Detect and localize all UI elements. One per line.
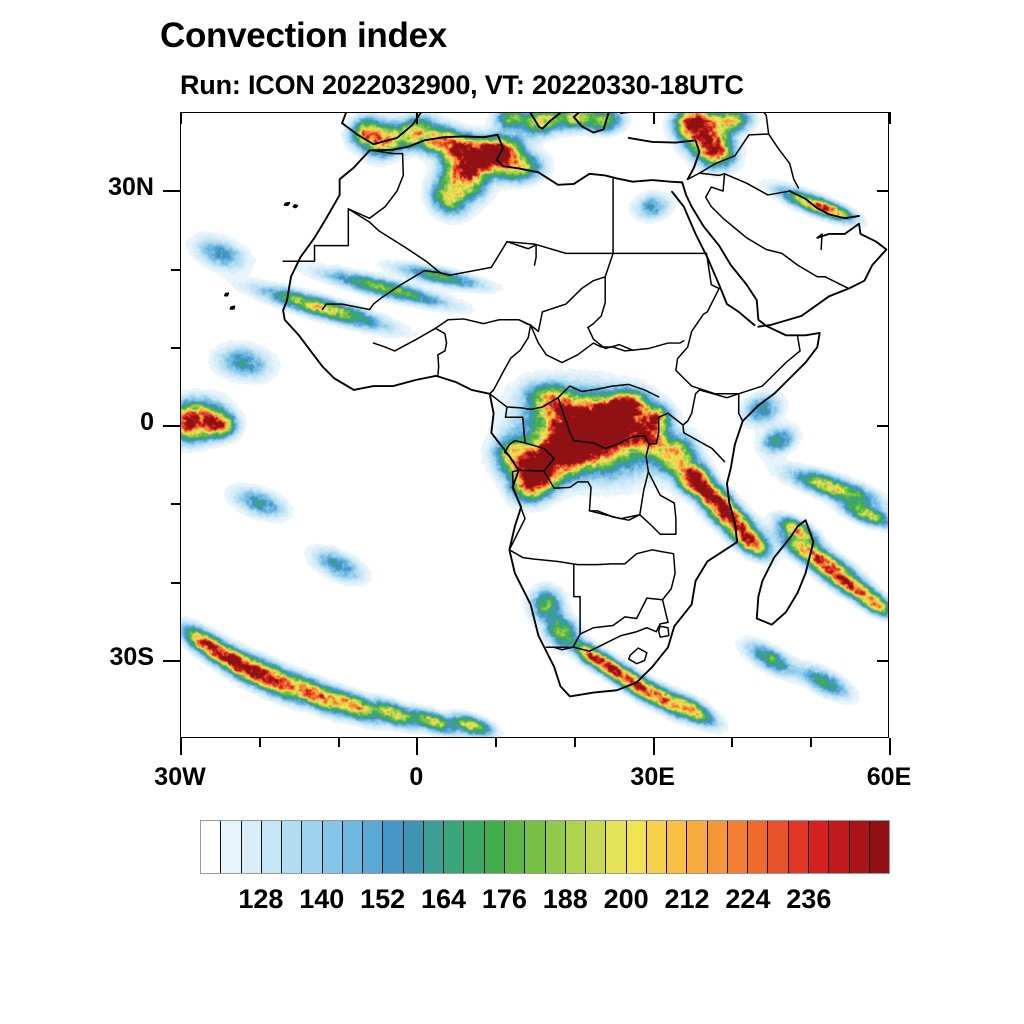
x-tick-minor-20 bbox=[574, 738, 576, 747]
y-tick-major-30N bbox=[163, 190, 180, 192]
colorbar-segment-8 bbox=[363, 821, 383, 873]
colorbar-segment-17 bbox=[546, 821, 566, 873]
y-tick-minor--10 bbox=[171, 503, 180, 505]
colorbar-segment-12 bbox=[444, 821, 464, 873]
x-tick-major-60E bbox=[889, 738, 891, 755]
colorbar-label-236: 236 bbox=[786, 884, 831, 915]
colorbar-segment-20 bbox=[606, 821, 626, 873]
colorbar-segment-16 bbox=[525, 821, 545, 873]
x-tick-top bbox=[653, 112, 655, 124]
colorbar-label-140: 140 bbox=[299, 884, 344, 915]
y-tick-major-30S bbox=[163, 660, 180, 662]
colorbar-segment-19 bbox=[586, 821, 606, 873]
y-tick-minor--20 bbox=[171, 582, 180, 584]
y-tick-label-30S: 30S bbox=[110, 643, 154, 672]
colorbar-label-212: 212 bbox=[665, 884, 710, 915]
colorbar-segment-14 bbox=[485, 821, 505, 873]
colorbar-label-128: 128 bbox=[238, 884, 283, 915]
colorbar-segment-2 bbox=[242, 821, 262, 873]
colorbar-label-200: 200 bbox=[604, 884, 649, 915]
x-tick-minor-40 bbox=[731, 738, 733, 747]
colorbar-segment-32 bbox=[850, 821, 870, 873]
colorbar[interactable] bbox=[200, 820, 890, 874]
colorbar-segment-31 bbox=[829, 821, 849, 873]
x-tick-top bbox=[889, 112, 891, 124]
x-tick-minor--20 bbox=[259, 738, 261, 747]
colorbar-segment-11 bbox=[424, 821, 444, 873]
colorbar-label-152: 152 bbox=[360, 884, 405, 915]
colorbar-segment-10 bbox=[404, 821, 424, 873]
colorbar-segment-24 bbox=[687, 821, 707, 873]
colorbar-label-188: 188 bbox=[543, 884, 588, 915]
colorbar-segment-6 bbox=[323, 821, 343, 873]
colorbar-segment-23 bbox=[667, 821, 687, 873]
y-tick-major-0 bbox=[163, 425, 180, 427]
colorbar-segment-13 bbox=[464, 821, 484, 873]
y-tick-label-30N: 30N bbox=[108, 173, 154, 202]
x-tick-minor-50 bbox=[810, 738, 812, 747]
x-tick-label-30E: 30E bbox=[630, 763, 674, 792]
colorbar-segment-9 bbox=[383, 821, 403, 873]
colorbar-segment-15 bbox=[505, 821, 525, 873]
colorbar-segment-26 bbox=[728, 821, 748, 873]
colorbar-segment-29 bbox=[789, 821, 809, 873]
colorbar-segment-25 bbox=[708, 821, 728, 873]
colorbar-segment-4 bbox=[282, 821, 302, 873]
x-tick-major-0 bbox=[416, 738, 418, 755]
colorbar-segment-0 bbox=[201, 821, 221, 873]
colorbar-segment-22 bbox=[647, 821, 667, 873]
x-tick-label-0: 0 bbox=[409, 763, 423, 792]
y-tick-right bbox=[877, 190, 889, 192]
colorbar-segment-21 bbox=[627, 821, 647, 873]
y-tick-minor-10 bbox=[171, 347, 180, 349]
x-tick-minor-10 bbox=[495, 738, 497, 747]
figure-title: Convection index bbox=[160, 16, 447, 56]
x-tick-label-30W: 30W bbox=[154, 763, 205, 792]
convection-index-map-figure: Convection index Run: ICON 2022032900, V… bbox=[0, 0, 1024, 1024]
x-tick-top bbox=[416, 112, 418, 124]
map-plot-area bbox=[180, 112, 889, 738]
y-tick-right bbox=[877, 425, 889, 427]
colorbar-label-176: 176 bbox=[482, 884, 527, 915]
colorbar-segment-33 bbox=[870, 821, 889, 873]
colorbar-segment-7 bbox=[343, 821, 363, 873]
x-tick-label-60E: 60E bbox=[867, 763, 911, 792]
colorbar-segment-3 bbox=[262, 821, 282, 873]
x-tick-major-30E bbox=[653, 738, 655, 755]
colorbar-segment-5 bbox=[302, 821, 322, 873]
x-tick-top bbox=[180, 112, 182, 124]
colorbar-segment-27 bbox=[748, 821, 768, 873]
x-tick-major-30W bbox=[180, 738, 182, 755]
colorbar-label-224: 224 bbox=[725, 884, 770, 915]
y-tick-right bbox=[877, 660, 889, 662]
colorbar-segment-1 bbox=[221, 821, 241, 873]
x-tick-minor--10 bbox=[338, 738, 340, 747]
y-tick-minor-20 bbox=[171, 269, 180, 271]
country-borders-overlay bbox=[181, 113, 888, 737]
colorbar-segment-28 bbox=[768, 821, 788, 873]
colorbar-label-164: 164 bbox=[421, 884, 466, 915]
colorbar-segment-30 bbox=[809, 821, 829, 873]
figure-subtitle: Run: ICON 2022032900, VT: 20220330-18UTC bbox=[180, 70, 744, 101]
colorbar-segment-18 bbox=[566, 821, 586, 873]
y-tick-label-0: 0 bbox=[140, 408, 154, 437]
